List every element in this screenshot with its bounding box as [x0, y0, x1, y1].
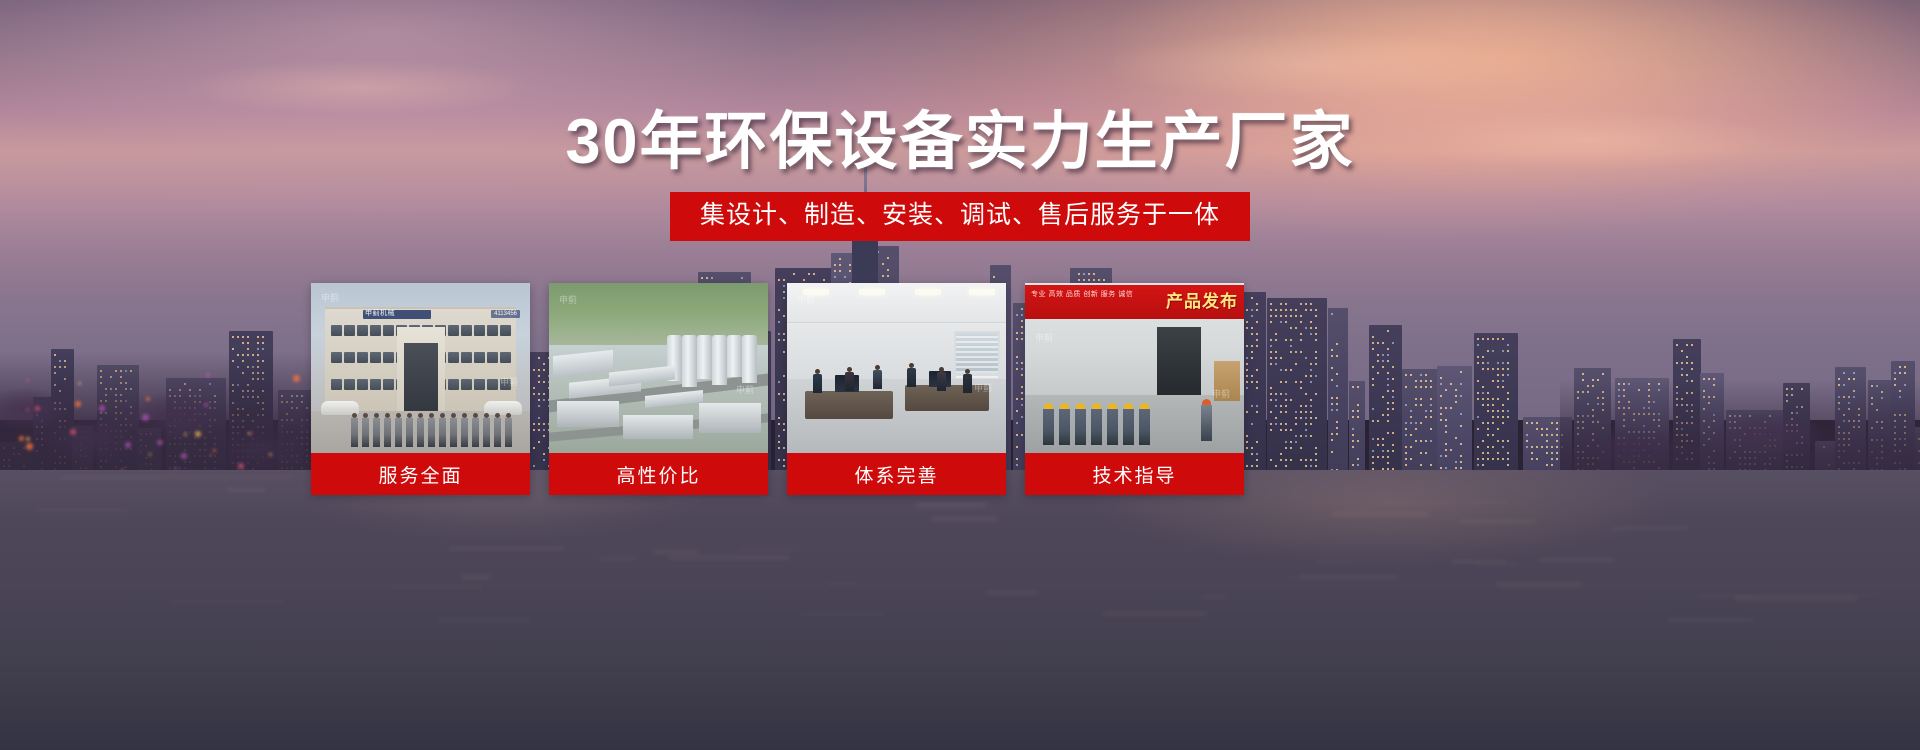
building-window [882, 263, 884, 265]
office-window-cell [500, 379, 511, 390]
tree-light [206, 373, 210, 377]
plant-silo [727, 335, 742, 377]
office-worker [845, 367, 854, 391]
water-streak [1696, 595, 1752, 597]
factory-worker [1043, 403, 1054, 445]
office-window-cell [383, 379, 394, 390]
water-streak [1299, 575, 1399, 579]
tree-light [204, 403, 208, 407]
office-window-cell [448, 325, 459, 336]
water-streak [1734, 596, 1857, 601]
building-window [882, 275, 884, 277]
ceiling-light-4 [969, 289, 995, 295]
building-window [1904, 372, 1906, 374]
subtitle-wrap: 集设计、制造、安装、调试、售后服务于一体 [0, 192, 1920, 241]
water-streak [1314, 560, 1353, 563]
water-streak [915, 503, 987, 507]
building-window [711, 277, 713, 279]
window-blind-slat [956, 356, 998, 358]
office-window-cell [344, 379, 355, 390]
office-window-cell [500, 325, 511, 336]
office-window-cell [357, 379, 368, 390]
office-window-cell [461, 352, 472, 363]
card-1-photo: 申蓟机械 4113456 申蓟 申蓟 [311, 283, 530, 453]
water-streak [986, 591, 1037, 595]
tree-light [26, 379, 29, 382]
office-worker [963, 369, 972, 393]
office-window-cell [487, 379, 498, 390]
card-1-caption: 服务全面 [311, 453, 530, 495]
building-window [839, 264, 841, 266]
building-window [834, 270, 836, 272]
plant-silo [697, 335, 712, 379]
factory-worker [1139, 403, 1150, 445]
building-window [1098, 279, 1100, 281]
watermark-1: 申蓟 [321, 291, 339, 304]
feature-card-3[interactable]: 申蓟 申蓟 体系完善 [787, 283, 1006, 495]
office-window-cell [487, 325, 498, 336]
water-streak [1758, 594, 1873, 596]
tree-light [26, 437, 30, 441]
staff-member [373, 413, 380, 447]
water-streak [653, 550, 701, 554]
building-window [1894, 372, 1896, 374]
water-streak [801, 613, 884, 615]
building-window [813, 273, 815, 275]
page-title: 30年环保设备实力生产厂家 [0, 105, 1920, 179]
water-streak [1103, 612, 1207, 614]
card-3-caption: 体系完善 [787, 453, 1006, 495]
staff-member [483, 413, 490, 447]
building-window [741, 277, 743, 279]
office-worker [813, 369, 822, 393]
tree-light [184, 433, 187, 436]
building-window [803, 279, 805, 281]
water-streak [931, 517, 998, 521]
building-window [1691, 362, 1693, 364]
building-window [783, 279, 785, 281]
building-window [1582, 373, 1584, 375]
building-window [1676, 362, 1678, 364]
building-window [887, 269, 889, 271]
factory-gate [1157, 327, 1201, 395]
building-window [1078, 279, 1080, 281]
water-streak [392, 585, 483, 589]
plant-conveyor-structure [609, 366, 675, 387]
tree-light [293, 375, 300, 382]
window-blind-slat [956, 361, 998, 363]
water-streak [668, 556, 790, 559]
building-window [1681, 374, 1683, 376]
building-window [993, 276, 995, 278]
factory-worker [1107, 403, 1118, 445]
water-streak [1380, 501, 1509, 503]
tree-light [251, 432, 253, 434]
office-window-cell [474, 325, 485, 336]
staff-member [428, 413, 435, 447]
building-window [1899, 372, 1901, 374]
water-streak [226, 488, 266, 491]
building-window [1093, 273, 1095, 275]
building-window [1088, 273, 1090, 275]
office-window-cell [448, 352, 459, 363]
staff-member [494, 413, 501, 447]
office-window-cell [357, 352, 368, 363]
building-window [1686, 356, 1688, 358]
tree-light [213, 449, 216, 452]
office-window-cell [331, 379, 342, 390]
tree-light [35, 406, 40, 411]
building-window [1078, 273, 1080, 275]
card-4-caption: 技术指导 [1025, 453, 1244, 495]
building-window [232, 336, 234, 338]
building-window [237, 336, 239, 338]
building-window [1899, 366, 1901, 368]
plant-workshop-1 [557, 401, 619, 427]
plant-conveyor-structure [553, 350, 613, 378]
building-window [257, 348, 259, 350]
staff-member [406, 413, 413, 447]
plant-silo [742, 335, 757, 383]
building-window [1602, 373, 1604, 375]
building-window [1686, 374, 1688, 376]
building-window [262, 348, 264, 350]
building-window [778, 279, 780, 281]
water-streak [449, 547, 565, 550]
tree-light [157, 440, 163, 446]
office-window-cell [383, 325, 394, 336]
staff-member [417, 413, 424, 447]
tree-light [125, 442, 131, 448]
card-2-caption: 高性价比 [549, 453, 768, 495]
water-streak [168, 475, 294, 478]
office-window-cell [500, 352, 511, 363]
building-window [1681, 350, 1683, 352]
water-streak [1667, 618, 1752, 622]
tree-light [181, 453, 187, 459]
building-window [257, 342, 259, 344]
building-window [839, 270, 841, 272]
office-worker [907, 363, 916, 387]
card-4-photo: 专业 高效 品质 创新 服务 诚信 产品发布 申蓟 申蓟 [1025, 283, 1244, 453]
building-window [849, 264, 851, 266]
office-window-cell [383, 352, 394, 363]
factory-banner-small-text: 专业 高效 品质 创新 服务 诚信 [1031, 290, 1133, 299]
tree-light [78, 382, 81, 385]
water-streak [60, 477, 168, 479]
building-door [404, 343, 438, 413]
factory-worker [1091, 403, 1102, 445]
plant-workshop-3 [699, 403, 761, 433]
building-window [844, 276, 846, 278]
window-blind-slat [956, 336, 998, 338]
factory-material-stack [1214, 361, 1240, 401]
card-3-photo: 申蓟 申蓟 [787, 283, 1006, 453]
ceiling-light-3 [915, 289, 941, 295]
building-window [1843, 372, 1845, 374]
office-window-cell [370, 379, 381, 390]
water-streak [1475, 563, 1518, 565]
hero-banner: 30年环保设备实力生产厂家 集设计、制造、安装、调试、售后服务于一体 申蓟机械 … [0, 0, 1920, 750]
tree-light [70, 429, 76, 435]
tree-light [99, 405, 106, 412]
water-streak [1200, 596, 1226, 598]
water-streak [1611, 527, 1688, 529]
building-window [1691, 344, 1693, 346]
building-window [247, 336, 249, 338]
building-window [247, 342, 249, 344]
office-window-cell [370, 352, 381, 363]
tree-light [269, 453, 272, 456]
building-sign-text: 申蓟机械 [365, 309, 395, 319]
building-window [849, 270, 851, 272]
office-window-cell [448, 379, 459, 390]
office-window-cell [331, 325, 342, 336]
tree-light [142, 414, 149, 421]
office-window-cell [370, 325, 381, 336]
building-window [262, 342, 264, 344]
building-window [834, 276, 836, 278]
factory-worker [1123, 403, 1134, 445]
water-streak [1282, 577, 1303, 579]
water-streak [599, 556, 637, 559]
water-streak [1459, 520, 1536, 524]
building-window [793, 273, 795, 275]
building-window [1093, 279, 1095, 281]
plant-silo [682, 335, 697, 387]
factory-worker [1059, 403, 1070, 445]
tree-light [26, 408, 29, 411]
tree-light [19, 436, 23, 440]
staff-member [472, 413, 479, 447]
office-window-cell [344, 352, 355, 363]
office-window-cell [474, 379, 485, 390]
tree-light [210, 454, 212, 456]
building-window [887, 275, 889, 277]
building-window [1904, 366, 1906, 368]
window-blind-slat [956, 341, 998, 343]
feature-card-4[interactable]: 专业 高效 品质 创新 服务 诚信 产品发布 申蓟 申蓟 技术指导 [1025, 283, 1244, 495]
tree-light [26, 443, 33, 450]
building-window [1686, 362, 1688, 364]
building-window [887, 257, 889, 259]
building-window [834, 264, 836, 266]
office-worker [937, 367, 946, 391]
staff-member [362, 413, 369, 447]
water-streak [665, 497, 773, 501]
building-window [247, 348, 249, 350]
water-streak [461, 575, 492, 579]
office-window-cell [461, 379, 472, 390]
office-window-cell [344, 325, 355, 336]
office-desk-2 [905, 385, 989, 411]
factory-banner-text: 产品发布 [1166, 287, 1238, 317]
building-window [1088, 279, 1090, 281]
building-window [232, 348, 234, 350]
water-streak [1495, 582, 1583, 587]
feature-card-list: 申蓟机械 4113456 申蓟 申蓟 服务全面 [311, 283, 1561, 495]
building-window [1853, 372, 1855, 374]
water-streak [1539, 558, 1615, 562]
building-window [1103, 279, 1105, 281]
tree-light [238, 463, 244, 469]
staff-member [351, 413, 358, 447]
building-window [1681, 368, 1683, 370]
office-desk-1 [805, 391, 893, 419]
staff-member [505, 413, 512, 447]
building-window [706, 277, 708, 279]
plant-silo [712, 335, 727, 385]
water-streak [34, 508, 128, 512]
factory-worker [1075, 403, 1086, 445]
staff-member [395, 413, 402, 447]
office-window [954, 331, 1000, 375]
building-window [1681, 362, 1683, 364]
staff-member [461, 413, 468, 447]
water-streak [737, 549, 795, 552]
tree-light [146, 397, 150, 401]
building-window [1083, 279, 1085, 281]
building-window [1083, 273, 1085, 275]
ceiling-light-1 [803, 289, 829, 295]
staff-member [439, 413, 446, 447]
building-window [242, 342, 244, 344]
window-blind-slat [956, 366, 998, 368]
building-phone-text: 4113456 [491, 310, 520, 318]
plant-workshop-2 [623, 415, 693, 439]
office-window-cell [461, 325, 472, 336]
water-streak [169, 600, 285, 603]
building-window [242, 336, 244, 338]
water-streak [438, 618, 531, 623]
ceiling-light-2 [859, 289, 885, 295]
office-window-cell [487, 352, 498, 363]
staff-member [384, 413, 391, 447]
window-blind-slat [956, 351, 998, 353]
water-streak [827, 583, 858, 586]
feature-card-1[interactable]: 申蓟机械 4113456 申蓟 申蓟 服务全面 [311, 283, 530, 495]
building-window [808, 273, 810, 275]
building-window [1686, 344, 1688, 346]
card-2-photo: 申蓟 申蓟 [549, 283, 768, 453]
office-window-cell [331, 352, 342, 363]
building-window [1691, 368, 1693, 370]
building-window [823, 279, 825, 281]
tree-light [149, 453, 151, 455]
staff-member [450, 413, 457, 447]
building-window [262, 336, 264, 338]
building-window [701, 277, 703, 279]
building-window [1676, 344, 1678, 346]
tree-light [75, 401, 81, 407]
feature-card-2[interactable]: 申蓟 申蓟 高性价比 [549, 283, 768, 495]
subtitle-banner: 集设计、制造、安装、调试、售后服务于一体 [670, 192, 1250, 241]
water-streak [1331, 512, 1431, 517]
office-window-cell [474, 352, 485, 363]
office-window-cell [357, 325, 368, 336]
building-window [839, 258, 841, 260]
tree-light [195, 431, 201, 437]
factory-supervisor [1201, 399, 1212, 445]
office-worker [873, 365, 882, 389]
window-blind-slat [956, 346, 998, 348]
building-window [257, 336, 259, 338]
